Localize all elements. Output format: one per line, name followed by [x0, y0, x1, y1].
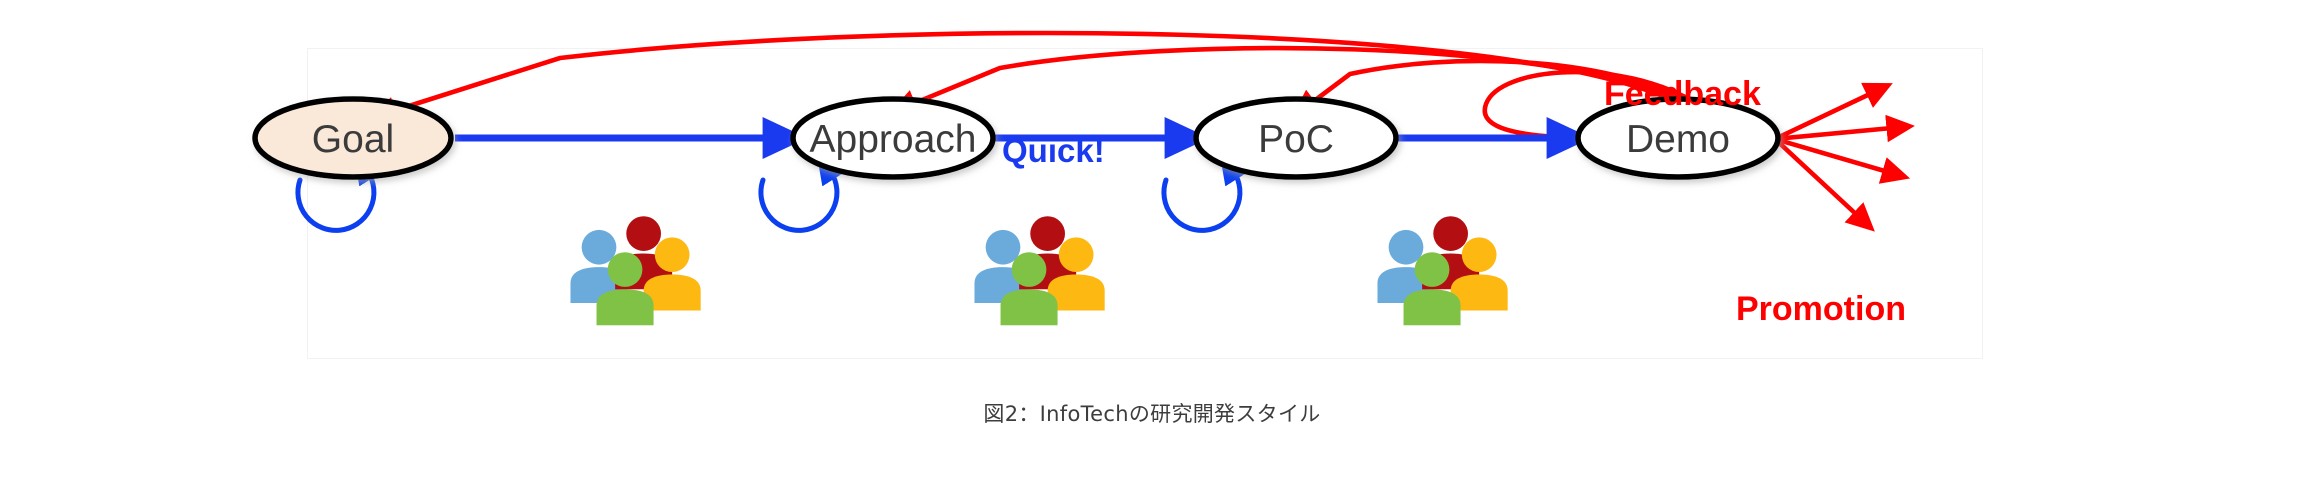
node-goal[interactable]: Goal — [255, 99, 451, 177]
figure-page: Goal Approach PoC Demo — [0, 0, 2304, 490]
self-loop-poc[interactable] — [1164, 172, 1240, 230]
figure-caption: 図2：InfoTechの研究開発スタイル — [0, 398, 2304, 428]
node-demo-label: Demo — [1626, 118, 1730, 161]
rd-style-diagram: Goal Approach PoC Demo — [0, 0, 2304, 400]
feedback-arc-group — [390, 33, 1694, 137]
annotation-promotion: Promotion — [1736, 290, 1906, 328]
feedback-arc-to-goal[interactable] — [390, 33, 1672, 112]
node-approach[interactable]: Approach — [793, 99, 993, 177]
people-group-approach — [974, 216, 1104, 325]
node-approach-label: Approach — [810, 118, 977, 161]
self-loop-approach[interactable] — [761, 172, 837, 230]
self-loop-goal[interactable] — [298, 172, 374, 230]
people-group-goal — [570, 216, 700, 325]
self-loop-group — [298, 172, 1240, 230]
node-poc-label: PoC — [1258, 118, 1334, 161]
people-group-poc — [1377, 216, 1507, 325]
promotion-arrow-group — [1775, 93, 1892, 216]
node-goal-label: Goal — [312, 118, 394, 161]
node-poc[interactable]: PoC — [1196, 99, 1396, 177]
annotation-feedback: Feedback — [1604, 75, 1761, 113]
annotation-quick: Quick! — [1002, 132, 1105, 169]
